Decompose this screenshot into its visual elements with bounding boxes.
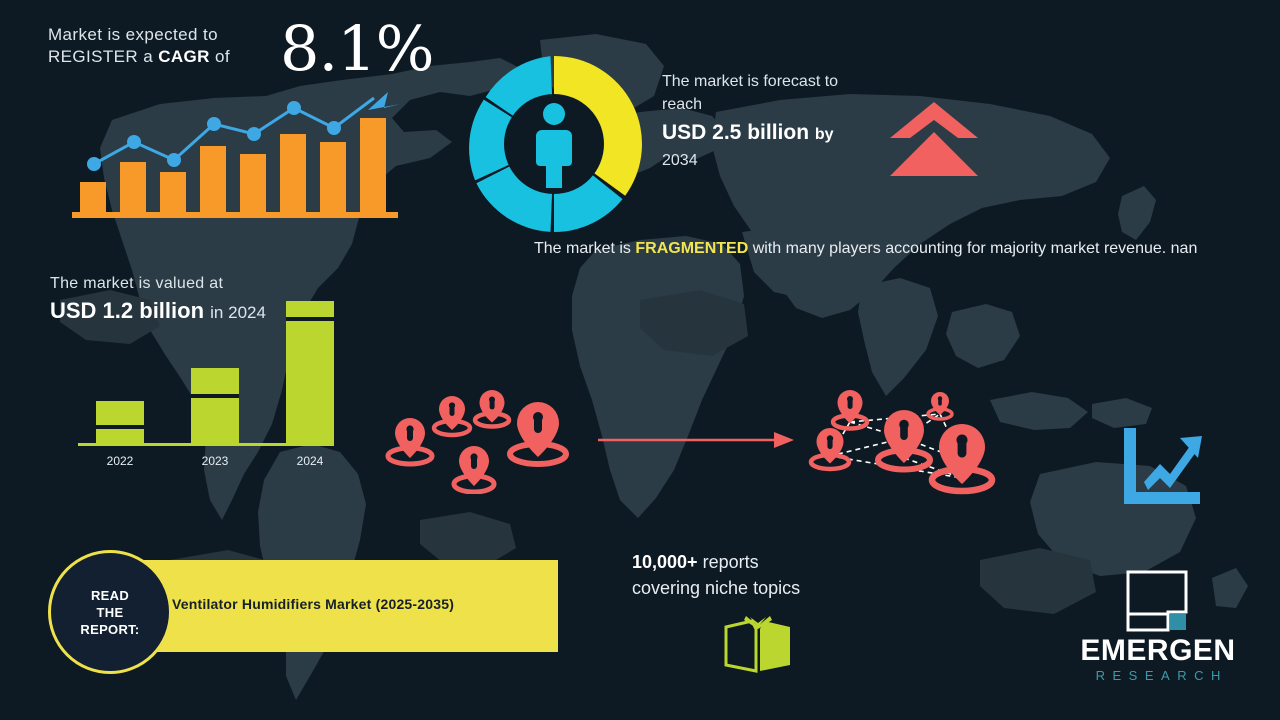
bar-2022	[96, 401, 144, 446]
map-pin-person-icon	[454, 446, 494, 492]
map-pin-person-icon	[434, 396, 470, 435]
market-share-donut	[462, 52, 646, 236]
reports-count-line2: covering niche topics	[632, 575, 912, 601]
scattered-map-pins	[382, 388, 574, 494]
double-chevron-up-icon	[888, 100, 980, 180]
square-frame-logo-mark	[1126, 570, 1188, 632]
cagr-lead-line2-pre: REGISTER a	[48, 47, 158, 66]
bar-label-2022: 2022	[90, 454, 150, 468]
read-line2: THE	[97, 605, 124, 620]
read-line1: READ	[91, 588, 129, 603]
valued-lead-text: The market is valued at	[50, 273, 350, 295]
forecast-lead-text: The market is forecast toreach	[662, 70, 902, 116]
bar-label-2024: 2024	[280, 454, 340, 468]
bar-label-2023: 2023	[185, 454, 245, 468]
cagr-value: 8.1%	[280, 18, 434, 80]
market-value-bar-chart: 2022 2023 2024	[78, 295, 338, 470]
fragmented-statement: The market is FRAGMENTED with many playe…	[534, 236, 1214, 261]
read-line3: REPORT:	[80, 622, 139, 637]
forecast-lead-line2: reach	[662, 96, 702, 113]
bar-2023	[191, 368, 239, 446]
reports-count-value: 10,000+	[632, 552, 698, 572]
fragmented-post: with many players accounting for majorit…	[748, 240, 1197, 257]
map-pin-person-icon	[833, 390, 867, 429]
growth-bar-chart-with-trendline	[72, 88, 412, 222]
logo-subtitle: RESEARCH	[1060, 668, 1256, 684]
forecast-year: 2034	[662, 150, 902, 172]
cagr-label: CAGR	[158, 47, 210, 66]
reports-count-line1: 10,000+ reports	[632, 549, 912, 575]
map-pin-person-icon	[878, 410, 930, 470]
bar-divider	[96, 425, 144, 429]
forecast-lead-line1: The market is forecast to	[662, 73, 838, 90]
forecast-by-label: by	[815, 126, 834, 143]
fragmented-highlight: FRAGMENTED	[635, 240, 748, 257]
right-arrow-icon	[596, 428, 796, 452]
map-pin-person-icon	[388, 418, 432, 464]
map-pin-person-icon	[475, 390, 509, 427]
forecast-value: USD 2.5 billion	[662, 121, 809, 144]
reports-count-suffix: reports	[698, 552, 759, 572]
connected-map-pins-network	[804, 386, 1004, 498]
cagr-lead-line2-post: of	[210, 47, 230, 66]
read-the-report-badge[interactable]: READTHEREPORT:	[48, 550, 172, 674]
emergen-research-logo: EMERGEN RESEARCH	[1060, 570, 1256, 702]
fragmented-pre: The market is	[534, 240, 635, 257]
logo-wordmark: EMERGEN	[1060, 634, 1256, 668]
bar-2024	[286, 301, 334, 446]
bar-divider	[286, 317, 334, 321]
read-the-report-label: READTHEREPORT:	[80, 587, 139, 638]
map-pin-person-icon	[932, 424, 992, 491]
infographic-canvas: Market is expected toREGISTER a CAGR of …	[0, 0, 1280, 720]
open-book-icon	[722, 615, 794, 673]
cagr-lead-line1: Market is expected to	[48, 25, 218, 44]
forecast-value-row: USD 2.5 billion by	[662, 118, 902, 150]
forecast-block: The market is forecast toreach USD 2.5 b…	[662, 70, 902, 172]
reports-count-block: 10,000+ reports covering niche topics	[632, 549, 912, 601]
cagr-block: Market is expected toREGISTER a CAGR of …	[48, 24, 448, 68]
report-title-label: Ventilator Humidifiers Market (2025-2035…	[172, 596, 454, 612]
map-pin-person-icon	[510, 402, 566, 464]
trend-up-chart-icon	[1118, 426, 1206, 510]
bar-divider	[191, 394, 239, 398]
